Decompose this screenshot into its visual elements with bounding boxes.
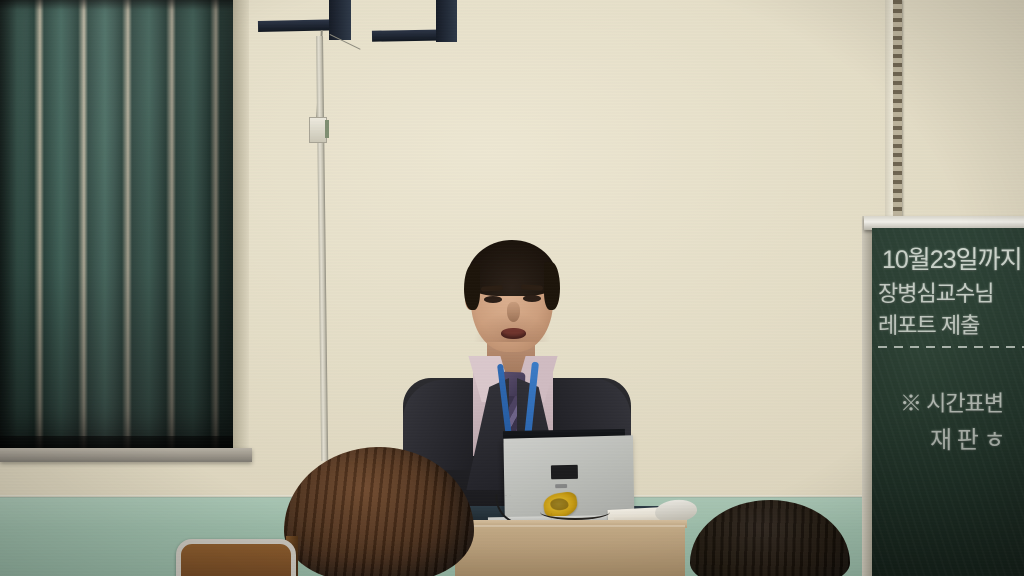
chalk-line-4: ※ 시간표변 [900,386,1003,418]
projector-screen-bracket-left-post [329,0,351,40]
chalk-line-5: 재 판 ㅎ [930,420,1005,455]
chalk-line-3: 레포트 제출 [878,308,979,340]
green-curtain [0,0,233,448]
green-chalkboard: 10월23일까지 장병심교수님 레포트 제출 ※ 시간표변 재 판 ㅎ [872,228,1024,576]
slotted-wall-rail [893,0,902,222]
wooden-podium [455,525,685,576]
chalk-line-2: 장병심교수님 [878,276,993,308]
curtain-top-shadow [0,0,233,10]
hair-side-left [464,264,480,310]
laptop-logo-text [555,484,567,488]
eye-right [523,295,541,302]
mouth [501,328,526,339]
chalk-line-1: 10월23일까지 [882,240,1022,276]
laptop-cable-second [540,504,610,520]
board-rail-edge [885,0,893,222]
window-sill [0,448,252,462]
window-right-edge [233,0,249,450]
chalk-dashed-divider [878,346,1024,348]
classroom-photo: 10월23일까지 장병심교수님 레포트 제출 ※ 시간표변 재 판 ㅎ [0,0,1024,576]
hair-side-right [544,262,560,310]
chair-backrest [176,539,296,576]
junction-box [309,117,327,143]
eye-left [484,296,502,303]
laptop-label [551,465,578,480]
projector-screen-bracket-right-post [436,0,457,42]
